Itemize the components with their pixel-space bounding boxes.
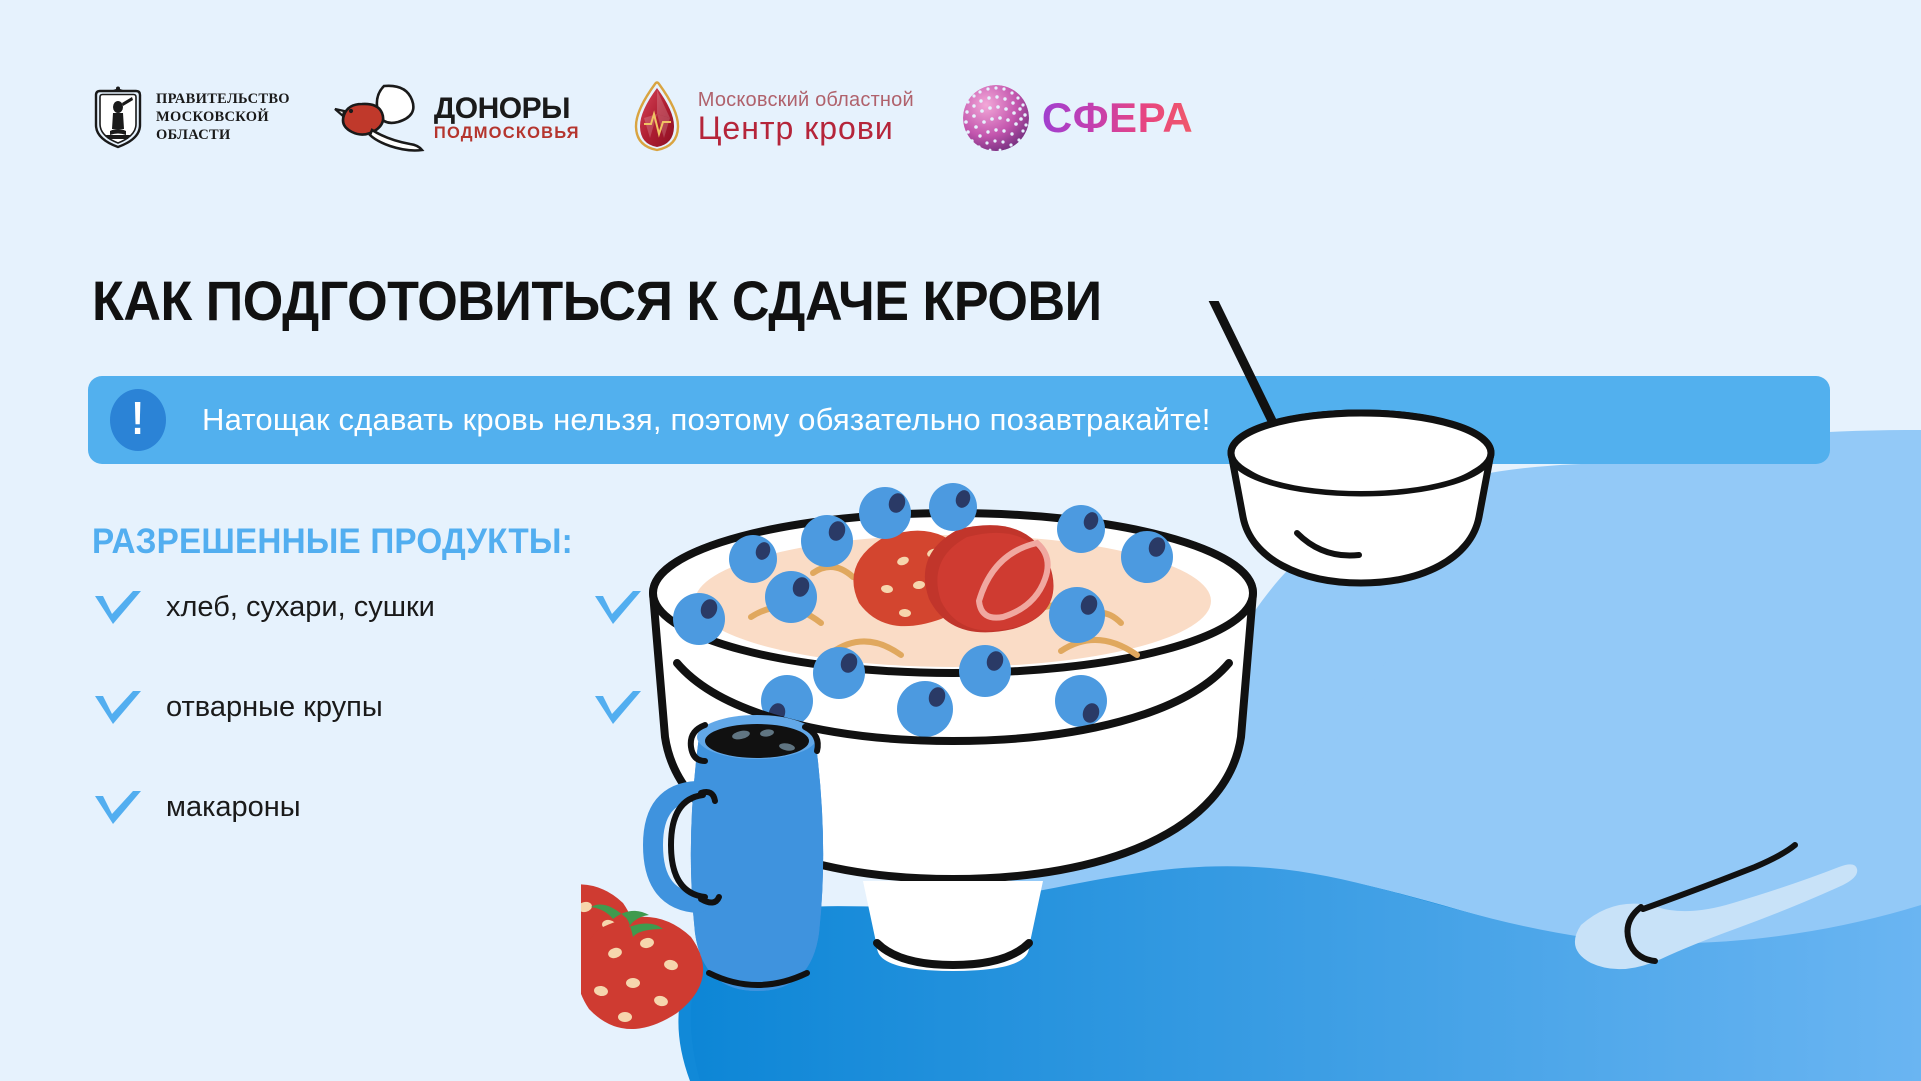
- logo-donors-podmoskovya: ДОНОРЫ ПОДМОСКОВЬЯ: [332, 78, 580, 158]
- logo-blood-center: Московский областной Центр крови: [626, 78, 914, 158]
- logo-government-label: ПРАВИТЕЛЬСТВО МОСКОВСКОЙ ОБЛАСТИ: [156, 91, 290, 144]
- strawberry-illustration: [581, 867, 703, 1029]
- alert-banner-text: Натощак сдавать кровь нельзя, поэтому об…: [202, 402, 1211, 438]
- list-item-label: хлеб, сухари, сушки: [166, 588, 435, 627]
- logo-sfera-label: СФЕРА: [1042, 97, 1193, 139]
- list-item: сладкий чай с вареньем: [592, 688, 1232, 788]
- check-icon: [592, 690, 644, 732]
- logo-sfera: СФЕРА: [960, 78, 1193, 158]
- list-item: овощи и фрукты (кроме бананов): [592, 588, 1232, 688]
- check-icon: [92, 690, 144, 732]
- list-item-label: отварные крупы: [166, 688, 383, 727]
- coat-of-arms-icon: [92, 85, 144, 151]
- blood-drop-icon: [626, 80, 688, 156]
- poster-root: ПРАВИТЕЛЬСТВО МОСКОВСКОЙ ОБЛАСТИ ДОНОРЫ …: [0, 0, 1921, 1081]
- check-icon: [92, 790, 144, 832]
- bullfinch-bird-icon: [332, 82, 428, 154]
- logo-blood-center-line2: Центр крови: [698, 112, 894, 146]
- list-item-label: макароны: [166, 788, 301, 827]
- allowed-products-heading: РАЗРЕШЕННЫЕ ПРОДУКТЫ:: [92, 522, 573, 562]
- spoon-illustration: [1575, 845, 1857, 969]
- check-icon: [592, 590, 644, 632]
- logo-donors-line1: ДОНОРЫ: [434, 95, 570, 124]
- halftone-sphere-icon: [960, 82, 1032, 154]
- list-item-label: овощи и фрукты (кроме бананов): [666, 588, 1115, 627]
- page-title: КАК ПОДГОТОВИТЬСЯ К СДАЧЕ КРОВИ: [92, 268, 1102, 333]
- allowed-products-list: хлеб, сухари, сушки овощи и фрукты (кром…: [92, 588, 1192, 888]
- logo-blood-center-line1: Московский областной: [698, 90, 914, 111]
- logo-donors-line2: ПОДМОСКОВЬЯ: [434, 125, 580, 142]
- check-icon: [92, 590, 144, 632]
- list-item: хлеб, сухари, сушки: [92, 588, 592, 688]
- list-item-label: сладкий чай с вареньем: [666, 688, 992, 727]
- alert-banner: ! Натощак сдавать кровь нельзя, поэтому …: [88, 376, 1830, 464]
- logo-strip: ПРАВИТЕЛЬСТВО МОСКОВСКОЙ ОБЛАСТИ ДОНОРЫ …: [92, 78, 1193, 158]
- exclamation-icon: !: [110, 389, 166, 451]
- list-item: макароны: [92, 788, 592, 888]
- logo-government-moscow-region: ПРАВИТЕЛЬСТВО МОСКОВСКОЙ ОБЛАСТИ: [92, 78, 290, 158]
- exclamation-glyph: !: [132, 395, 145, 441]
- list-item: отварные крупы: [92, 688, 592, 788]
